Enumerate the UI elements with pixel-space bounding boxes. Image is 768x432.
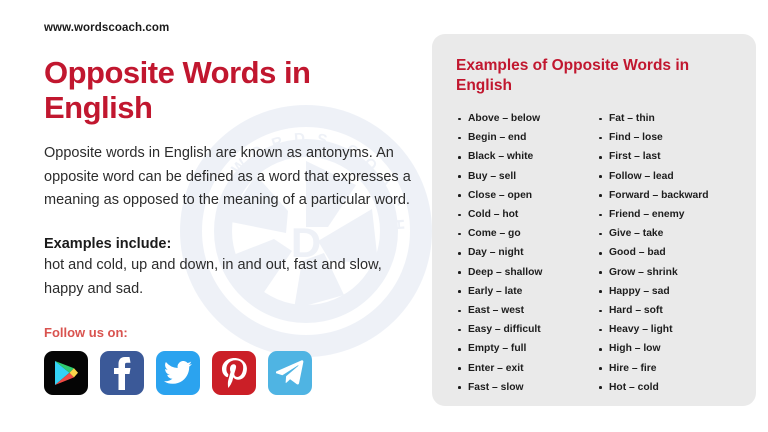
word-pair-item: Fat – thin [597,109,738,128]
word-column-one: Above – belowBegin – endBlack – whiteBuy… [456,109,597,397]
word-pair-item: Begin – end [456,128,597,147]
word-pair-item: Day – night [456,243,597,262]
word-pair-item: Hot – cold [597,378,738,397]
word-pair-item: Easy – difficult [456,320,597,339]
intro-paragraph: Opposite words in English are known as a… [44,142,414,212]
word-pair-item: Early – late [456,282,597,301]
word-pair-item: Good – bad [597,243,738,262]
word-pair-item: Grow – shrink [597,263,738,282]
twitter-icon[interactable] [156,351,200,395]
google-play-icon[interactable] [44,351,88,395]
facebook-icon[interactable] [100,351,144,395]
word-pair-item: Above – below [456,109,597,128]
word-pair-item: Hard – soft [597,301,738,320]
word-pair-item: Happy – sad [597,282,738,301]
word-pair-item: Find – lose [597,128,738,147]
word-pair-columns: Above – belowBegin – endBlack – whiteBuy… [456,109,738,397]
word-pair-item: Fast – slow [456,378,597,397]
word-pair-item: Buy – sell [456,167,597,186]
word-pair-item: First – last [597,147,738,166]
word-pair-item: Follow – lead [597,167,738,186]
word-pair-item: East – west [456,301,597,320]
word-pair-item: Heavy – light [597,320,738,339]
word-pair-item: Forward – backward [597,186,738,205]
word-pair-item: Come – go [456,224,597,243]
examples-include-text: hot and cold, up and down, in and out, f… [44,254,414,301]
pinterest-icon[interactable] [212,351,256,395]
telegram-icon[interactable] [268,351,312,395]
follow-us-label: Follow us on: [44,325,430,340]
word-pair-item: Give – take [597,224,738,243]
word-column-two: Fat – thinFind – loseFirst – lastFollow … [597,109,738,397]
word-pair-item: Cold – hot [456,205,597,224]
left-content-pane: www.wordscoach.com Opposite Words in Eng… [0,0,430,432]
word-pair-item: Friend – enemy [597,205,738,224]
word-pair-item: Hire – fire [597,359,738,378]
word-pair-item: Enter – exit [456,359,597,378]
examples-include-heading: Examples include: [44,236,430,252]
word-pair-item: High – low [597,339,738,358]
word-pair-item: Deep – shallow [456,263,597,282]
word-list-two: Fat – thinFind – loseFirst – lastFollow … [597,109,738,397]
word-list-one: Above – belowBegin – endBlack – whiteBuy… [456,109,597,397]
examples-panel: Examples of Opposite Words in English Ab… [432,34,756,406]
examples-panel-title: Examples of Opposite Words in English [456,56,736,95]
word-pair-item: Black – white [456,147,597,166]
word-pair-item: Close – open [456,186,597,205]
site-url: www.wordscoach.com [44,22,430,34]
page-title: Opposite Words in English [44,55,374,125]
word-pair-item: Empty – full [456,339,597,358]
social-links-row [44,351,430,395]
